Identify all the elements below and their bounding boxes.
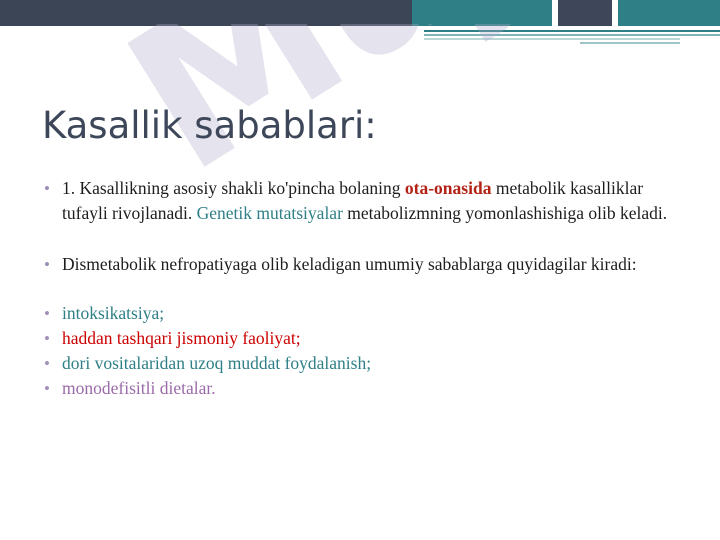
- text-segment: metabolizmning yomonlashishiga olib kela…: [343, 203, 667, 223]
- list-item-text: dori vositalaridan uzoq muddat foydalani…: [62, 351, 684, 376]
- header-block-b: [612, 0, 618, 26]
- bullet-marker: •: [44, 301, 62, 326]
- header-band-teal-2: [556, 0, 616, 26]
- header-rule-4: [580, 42, 680, 44]
- list-item: • haddan tashqari jismoniy faoliyat;: [44, 326, 684, 351]
- spacer: [44, 277, 684, 301]
- spacer: [44, 226, 684, 252]
- text-segment: haddan tashqari jismoniy faoliyat;: [62, 328, 301, 348]
- bullet-marker: •: [44, 351, 62, 376]
- list-item: • intoksikatsiya;: [44, 301, 684, 326]
- text-segment-emphasis: Genetik mutatsiyalar: [197, 203, 343, 223]
- list-item-text: haddan tashqari jismoniy faoliyat;: [62, 326, 684, 351]
- text-segment: 1. Kasallikning asosiy shakli ko'pincha …: [62, 178, 405, 198]
- header-block-a: [552, 0, 558, 26]
- header-rule-2: [424, 34, 720, 36]
- header-rule-1: [424, 30, 720, 32]
- list-item-text: intoksikatsiya;: [62, 301, 684, 326]
- list-item: • dori vositalaridan uzoq muddat foydala…: [44, 351, 684, 376]
- bullet-marker: •: [44, 252, 62, 277]
- header-band-teal-3: [618, 0, 720, 26]
- text-segment: intoksikatsiya;: [62, 303, 164, 323]
- page-title: Kasallik sabablari:: [42, 104, 377, 147]
- list-item: • monodefisitli dietalar.: [44, 376, 684, 401]
- bullet-marker: •: [44, 176, 62, 201]
- text-segment: Dismetabolik nefropatiyaga olib keladiga…: [62, 254, 637, 274]
- list-item-text: monodefisitli dietalar.: [62, 376, 684, 401]
- text-segment-emphasis: ota-onasida: [405, 178, 492, 198]
- header-band-dark: [0, 0, 412, 26]
- list-item: • Dismetabolik nefropatiyaga olib keladi…: [44, 252, 684, 277]
- header-rule-3: [424, 38, 680, 40]
- bullet-marker: •: [44, 326, 62, 351]
- text-segment: monodefisitli dietalar.: [62, 378, 216, 398]
- header-band-teal-1: [412, 0, 552, 26]
- list-item-text: 1. Kasallikning asosiy shakli ko'pincha …: [62, 176, 684, 226]
- list-item-text: Dismetabolik nefropatiyaga olib keladiga…: [62, 252, 684, 277]
- list-item: • 1. Kasallikning asosiy shakli ko'pinch…: [44, 176, 684, 226]
- content-list: • 1. Kasallikning asosiy shakli ko'pinch…: [44, 176, 684, 401]
- bullet-marker: •: [44, 376, 62, 401]
- slide: Mujaz 24 Kasallik sabablari: • 1. Kasall…: [0, 0, 720, 540]
- text-segment: dori vositalaridan uzoq muddat foydalani…: [62, 353, 371, 373]
